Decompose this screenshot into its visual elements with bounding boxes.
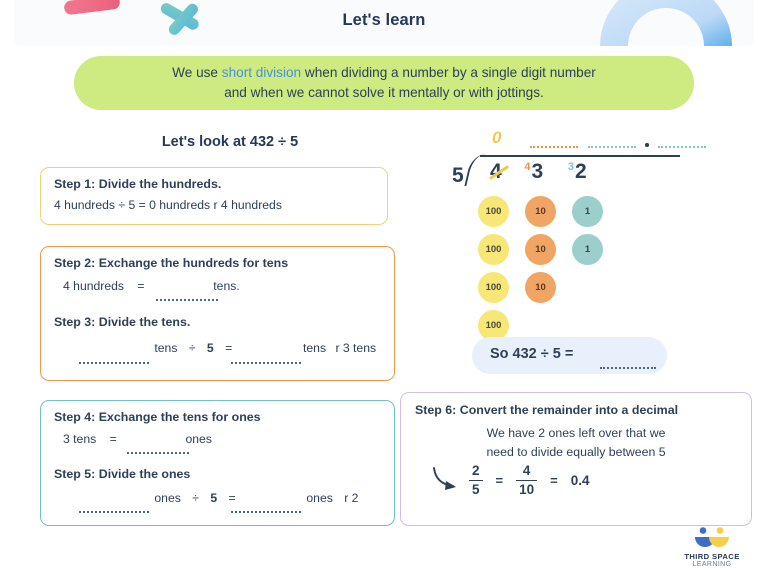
step-3-equals: =	[225, 341, 232, 355]
step-5-blank-2-line[interactable]	[231, 511, 301, 513]
fraction-2-denominator: 10	[516, 482, 537, 498]
step-2-3-box: Step 2: Exchange the hundreds for tens 4…	[40, 246, 395, 381]
carried-ones: 3	[568, 161, 575, 173]
counter-ten[interactable]: 10	[525, 272, 556, 303]
lesson-subtitle: Let's look at 432 ÷ 5	[40, 134, 420, 150]
step-4-equation: 3 tens = ones	[63, 432, 212, 446]
fraction-1-denominator: 5	[469, 482, 483, 498]
bus-stop-division: 0 5 4 43 32	[440, 126, 760, 206]
quotient-blank-2[interactable]	[588, 146, 636, 148]
step-3-unit-2: tens	[303, 341, 326, 355]
division-bracket-icon	[464, 154, 487, 186]
place-value-counters: 100 10 1 100 10 1 100 10 100	[478, 196, 603, 348]
step-2-blank-line[interactable]	[156, 299, 218, 301]
step-5-operator: ÷	[192, 491, 199, 505]
step-2-equals: =	[137, 279, 144, 293]
fraction-four-tenths: 4 10	[516, 463, 537, 498]
info-banner: We use short division when dividing a nu…	[74, 56, 694, 110]
counter-ten[interactable]: 10	[525, 234, 556, 265]
header-bar: Let's learn	[14, 0, 754, 46]
banner-line-2: and when we cannot solve it mentally or …	[224, 84, 544, 102]
step-5-unit-2: ones	[306, 491, 332, 505]
step-3-remainder: r 3 tens	[335, 341, 376, 355]
quotient-blank-3[interactable]	[658, 146, 706, 148]
step-5-title: Step 5: Divide the ones	[54, 467, 190, 481]
counter-hundred[interactable]: 100	[478, 196, 509, 227]
step-6-line-2: need to divide equally between 5	[401, 445, 751, 459]
step-5-blank-1-line[interactable]	[79, 511, 149, 513]
step-6-line-1: We have 2 ones left over that we	[401, 426, 751, 440]
banner-line-1: We use short division when dividing a nu…	[172, 64, 596, 82]
step-3-blank-2-line[interactable]	[231, 362, 301, 364]
fraction-1-bar	[469, 480, 483, 482]
divisor-value: 5	[452, 164, 464, 188]
step-2-equation: 4 hundreds = tens.	[63, 279, 240, 293]
fraction-two-fifths: 2 5	[469, 463, 483, 498]
banner-text-after: when dividing a number by a single digit…	[301, 65, 596, 80]
step-1-box: Step 1: Divide the hundreds. 4 hundreds …	[40, 167, 388, 225]
logo-mark-icon	[692, 527, 732, 551]
step-3-operator: ÷	[189, 341, 196, 355]
step-6-box: Step 6: Convert the remainder into a dec…	[400, 392, 752, 526]
counter-hundred[interactable]: 100	[478, 272, 509, 303]
fraction-2-numerator: 4	[520, 463, 534, 479]
step-2-unit: tens.	[213, 279, 239, 293]
step-4-equals: =	[110, 432, 117, 446]
step-3-equation: tens ÷ 5 = tens r 3 tens	[141, 341, 376, 355]
step-6-title: Step 6: Convert the remainder into a dec…	[415, 403, 678, 417]
carried-tens: 4	[524, 161, 531, 173]
dividend-digit-tens: 3	[532, 160, 545, 183]
counter-row: 100 10 1	[478, 196, 603, 227]
step-1-title: Step 1: Divide the hundreds.	[54, 177, 221, 191]
step-6-equals-1: =	[496, 473, 504, 488]
counter-row: 100 10 1	[478, 234, 603, 265]
step-2-title: Step 2: Exchange the hundreds for tens	[54, 256, 288, 270]
step-6-decimal-result: 0.4	[571, 473, 590, 488]
step-3-blank-1-line[interactable]	[79, 362, 149, 364]
counter-hundred[interactable]: 100	[478, 234, 509, 265]
step-4-unit: ones	[186, 432, 212, 446]
step-3-unit-1: tens	[154, 341, 177, 355]
step-3-title: Step 3: Divide the tens.	[54, 315, 190, 329]
banner-text-before: We use	[172, 65, 222, 80]
page-title: Let's learn	[14, 11, 754, 30]
curved-arrow-icon	[429, 465, 463, 500]
counter-row: 100 10	[478, 272, 603, 303]
step-4-5-box: Step 4: Exchange the tens for ones 3 ten…	[40, 400, 395, 526]
step-2-lhs: 4 hundreds	[63, 279, 124, 293]
counter-ten[interactable]: 10	[525, 196, 556, 227]
step-5-equals: =	[228, 491, 235, 505]
decimal-point-icon	[645, 143, 649, 147]
step-3-divisor: 5	[207, 341, 214, 355]
step-5-equation: ones ÷ 5 = ones r 2	[141, 491, 358, 505]
dividend-digit-ones: 2	[575, 160, 588, 183]
counter-empty-slot	[572, 272, 603, 303]
answer-summary-blank[interactable]	[600, 367, 656, 369]
step-5-divisor: 5	[210, 491, 217, 505]
division-bar-icon	[480, 155, 680, 157]
logo-sub: LEARNING	[670, 561, 754, 568]
step-6-equation: 2 5 = 4 10 = 0.4	[469, 463, 590, 498]
step-5-unit-1: ones	[154, 491, 180, 505]
short-division-highlight: short division	[222, 65, 301, 80]
brand-logo: THIRD SPACE LEARNING	[670, 527, 754, 568]
step-6-equals-2: =	[550, 473, 558, 488]
answer-summary-text: So 432 ÷ 5 =	[490, 346, 573, 362]
dividend-digit-hundreds: 4	[490, 160, 503, 184]
counter-one[interactable]: 1	[572, 234, 603, 265]
step-4-blank-line[interactable]	[127, 452, 189, 454]
quotient-zero: 0	[492, 128, 501, 148]
fraction-1-numerator: 2	[469, 463, 483, 479]
answer-summary-box: So 432 ÷ 5 =	[472, 337, 667, 374]
fraction-2-bar	[516, 480, 537, 482]
step-4-lhs: 3 tens	[63, 432, 96, 446]
dividend-digits: 4 43 32	[490, 160, 588, 184]
step-4-title: Step 4: Exchange the tens for ones	[54, 410, 261, 424]
logo-name: THIRD SPACE	[670, 552, 754, 561]
counter-one[interactable]: 1	[572, 196, 603, 227]
step-1-text: 4 hundreds ÷ 5 = 0 hundreds r 4 hundreds	[54, 198, 282, 212]
quotient-blank-1[interactable]	[530, 146, 578, 148]
step-5-remainder: r 2	[344, 491, 358, 505]
